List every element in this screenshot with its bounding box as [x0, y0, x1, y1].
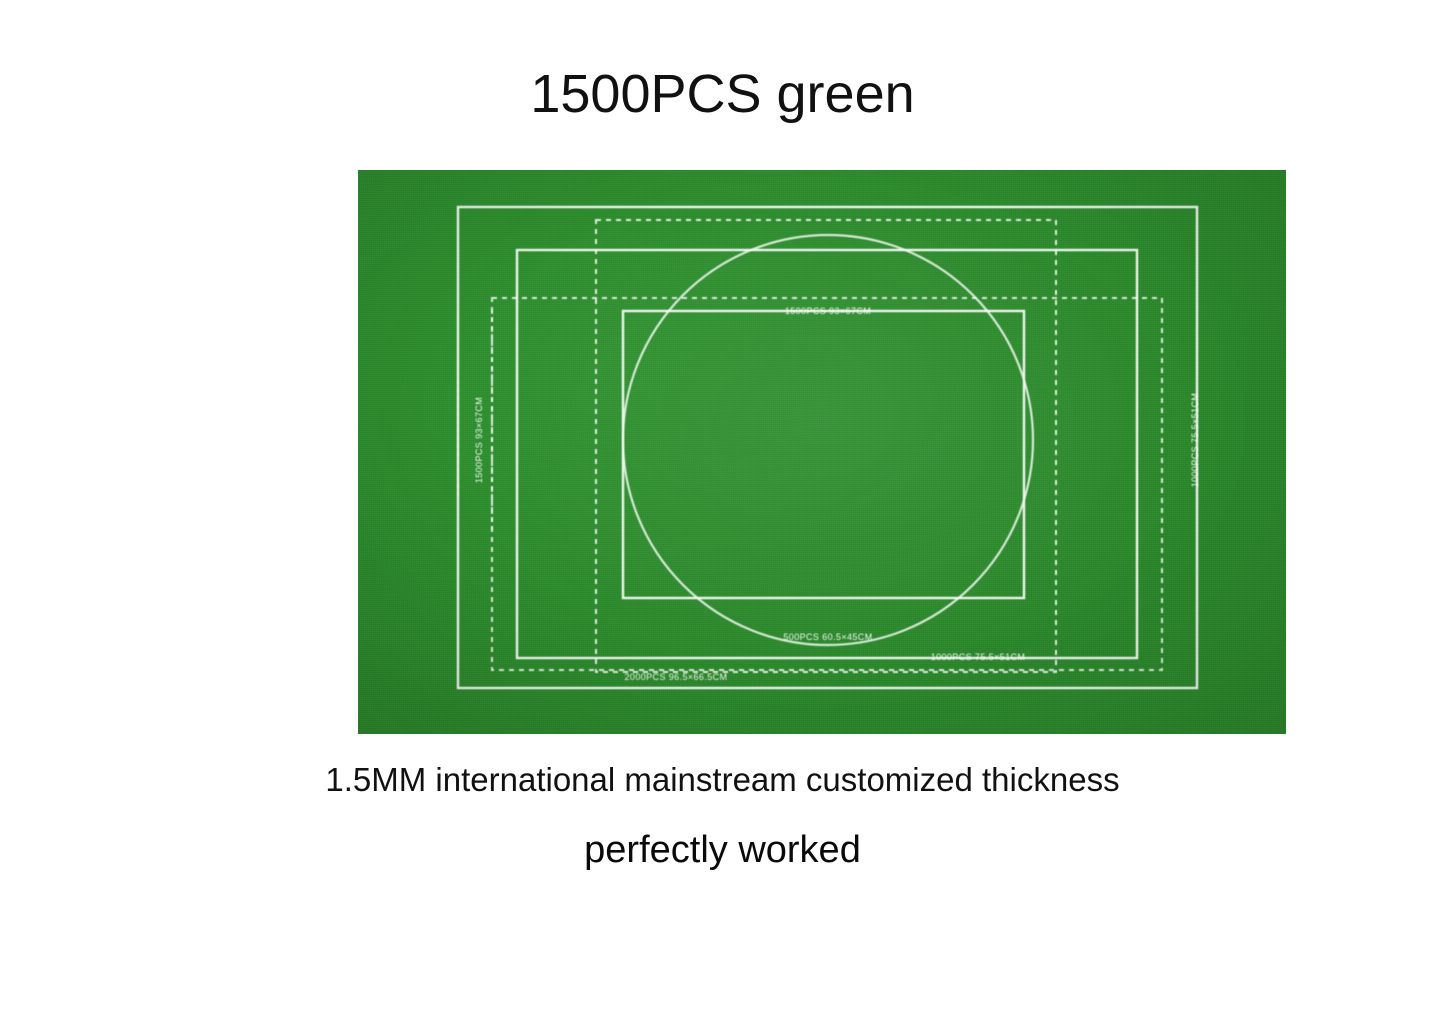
caption-tagline: perfectly worked: [0, 826, 1445, 874]
label-1000pcs-bottom: 1000PCS 75.5×51CM: [931, 652, 1026, 662]
product-mat-photo: 1500PCS 93×67CM 1000PCS 75.5×51CM 500PCS…: [358, 170, 1286, 734]
mat-markings-svg: 1500PCS 93×67CM 1000PCS 75.5×51CM 500PCS…: [358, 170, 1286, 734]
label-left-vertical: 1500PCS 93×67CM: [474, 397, 484, 483]
label-2000pcs-bottom: 2000PCS 96.5×66.5CM: [625, 672, 728, 682]
label-right-vertical: 1000PCS 75.5×51CM: [1190, 393, 1200, 488]
caption-thickness: 1.5MM international mainstream customize…: [0, 759, 1445, 801]
rect-1000pcs: [623, 311, 1024, 598]
puzzle-mat-surface: 1500PCS 93×67CM 1000PCS 75.5×51CM 500PCS…: [358, 170, 1286, 734]
product-image-page: 1500PCS green: [0, 0, 1445, 1023]
label-1500pcs-top: 1500PCS 93×67CM: [785, 306, 871, 316]
circle-round-puzzle: [623, 235, 1033, 645]
rect-outer-2000pcs: [458, 207, 1197, 688]
rect-dashed-guide: [596, 220, 1056, 672]
label-500pcs-bottom: 500PCS 60.5×45CM: [783, 632, 872, 642]
page-title: 1500PCS green: [0, 62, 1445, 126]
rect-dashed-inner: [492, 298, 1162, 670]
